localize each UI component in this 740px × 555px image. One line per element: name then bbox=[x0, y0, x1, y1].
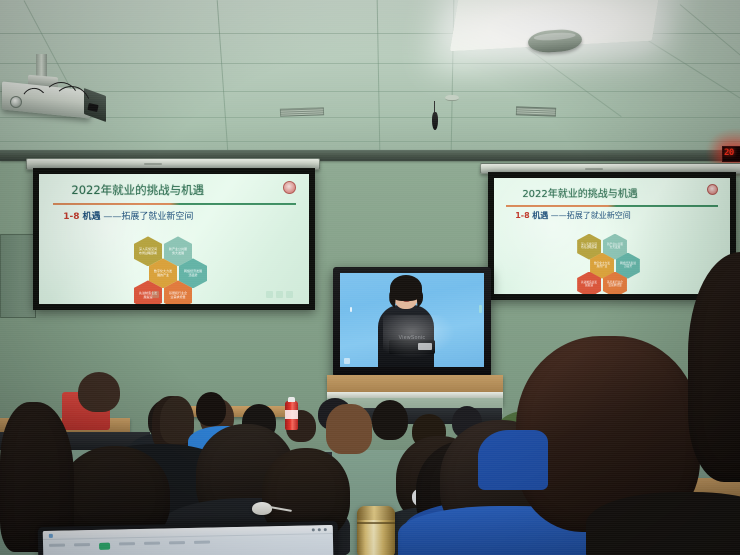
slide-subtitle-keyword: 机遇 bbox=[532, 211, 548, 220]
slide-left: 2022年就业的挑战与机遇 1-8 机遇 ——拓展了就业新空间 深入实施空间布局… bbox=[39, 174, 309, 304]
slide-title: 2022年就业的挑战与机遇 bbox=[522, 185, 637, 200]
led-sign-text: 20 bbox=[724, 148, 734, 158]
hex-label: 深入实施空间布局战略部署 bbox=[581, 244, 598, 250]
ceiling bbox=[0, 0, 740, 162]
bookmark-item[interactable] bbox=[144, 542, 160, 545]
bookmark-item[interactable] bbox=[119, 542, 135, 545]
desktop-cursor-icon bbox=[350, 307, 352, 312]
university-logo-icon bbox=[707, 184, 718, 195]
slide-subtitle: 1-8 机遇 ——拓展了就业新空间 bbox=[63, 209, 193, 222]
watermark-icon bbox=[286, 291, 293, 298]
laptop[interactable] bbox=[38, 521, 339, 555]
slide-right: 2022年就业的挑战与机遇 1-8 机遇 ——拓展了就业新空间 深入实施空间布局… bbox=[494, 178, 730, 294]
thermos-flask bbox=[357, 506, 395, 555]
computer-mouse[interactable] bbox=[252, 502, 272, 515]
slide-watermark-right bbox=[266, 291, 293, 298]
air-vent-2 bbox=[516, 106, 556, 116]
hex-label: 深入实施空间布局战略部署 bbox=[138, 248, 159, 255]
bookmark-item[interactable] bbox=[49, 544, 65, 547]
presenter-paper bbox=[418, 343, 432, 350]
bookmark-item[interactable] bbox=[169, 541, 185, 544]
slide-divider bbox=[506, 205, 718, 207]
slide-watermark-left bbox=[152, 291, 159, 298]
lcd-screen-content: ViewSonic bbox=[340, 273, 484, 367]
slide-title: 2022年就业的挑战与机遇 bbox=[71, 182, 204, 198]
bookmark-item[interactable] bbox=[74, 543, 90, 546]
hanging-sensor-icon bbox=[432, 112, 438, 130]
wall-panel-left bbox=[0, 234, 36, 318]
hex-label: 网络经济发展迅猛势 bbox=[619, 263, 636, 269]
watermark-icon bbox=[266, 291, 273, 298]
smoke-detector-icon bbox=[445, 95, 459, 101]
hex-label: 新产业公共服务大发展 bbox=[606, 244, 623, 250]
browser-action-icon[interactable] bbox=[318, 528, 321, 531]
hex-label: 新产业公共服务大发展 bbox=[168, 248, 189, 255]
hex-label: 基层和行业企业需求增量 bbox=[606, 281, 623, 287]
bookmark-item[interactable] bbox=[194, 541, 210, 544]
desktop-icon[interactable] bbox=[344, 358, 350, 364]
presenter-desk bbox=[389, 340, 435, 354]
hex-label: 数字化大力发展的产业 bbox=[593, 263, 610, 269]
audience-hair-brown bbox=[326, 404, 372, 454]
watermark-icon bbox=[152, 291, 159, 298]
audience-head bbox=[196, 392, 226, 426]
slide-subtitle-number: 1-8 bbox=[63, 212, 79, 222]
blue-jacket-left bbox=[478, 430, 548, 490]
browser-action-icon[interactable] bbox=[324, 528, 327, 531]
thermos-cap bbox=[357, 506, 395, 520]
cola-bottle bbox=[285, 401, 298, 430]
audience-head bbox=[78, 372, 120, 412]
slide-subtitle-tail: ——拓展了就业新空间 bbox=[103, 212, 193, 222]
browser-favicon bbox=[49, 534, 53, 538]
hex-label: 先进制造业发展提速 bbox=[581, 281, 598, 287]
slide-subtitle: 1-8 机遇 ——拓展了就业新空间 bbox=[515, 210, 631, 221]
lecture-hall-photo: 20 2022年就业的挑战与机遇 1-8 机遇 ——拓展了就业新空间 深入实施空… bbox=[0, 0, 740, 555]
thermos-ring bbox=[357, 522, 395, 524]
bottle-cap bbox=[288, 397, 295, 402]
audience-head bbox=[372, 400, 408, 440]
browser-actions[interactable] bbox=[312, 528, 327, 531]
projection-screen-right[interactable]: 2022年就业的挑战与机遇 1-8 机遇 ——拓展了就业新空间 深入实施空间布局… bbox=[488, 172, 736, 300]
air-vent-1 bbox=[280, 107, 324, 117]
hex-label: 基层和行业企业需求增量 bbox=[168, 292, 189, 299]
laptop-screen bbox=[43, 525, 334, 555]
watermark-icon bbox=[276, 291, 283, 298]
projection-screen-left[interactable]: 2022年就业的挑战与机遇 1-8 机遇 ——拓展了就业新空间 深入实施空间布局… bbox=[33, 168, 315, 310]
hexagon-cluster: 深入实施空间布局战略部署新产业公共服务大发展数字化大力发展的产业网络经济发展迅猛… bbox=[572, 234, 652, 294]
slide-subtitle-keyword: 机遇 bbox=[82, 212, 100, 222]
projector-lens-icon bbox=[10, 96, 22, 108]
bookmark-item-active[interactable] bbox=[99, 543, 110, 550]
lcd-display[interactable]: ViewSonic bbox=[333, 267, 491, 377]
hexagon-cluster: 深入实施空间布局战略部署新产业公共服务大发展数字化大力发展的产业网络经济发展迅猛… bbox=[128, 236, 220, 304]
slide-subtitle-tail: ——拓展了就业新空间 bbox=[551, 211, 631, 220]
tv-brand-label: ViewSonic bbox=[399, 335, 426, 341]
browser-action-icon[interactable] bbox=[312, 528, 315, 531]
screen-edge-indicator bbox=[479, 305, 482, 313]
bottle-label bbox=[285, 410, 298, 419]
hex-label: 数字化大力发展的产业 bbox=[153, 270, 174, 277]
hex-label: 网络经济发展迅猛势 bbox=[183, 270, 204, 277]
led-sign: 20 bbox=[722, 146, 740, 162]
presenter-body bbox=[378, 305, 434, 367]
browser-bookmarks[interactable] bbox=[49, 541, 210, 551]
browser-toolbar[interactable] bbox=[43, 525, 333, 540]
slide-subtitle-number: 1-8 bbox=[515, 211, 529, 220]
slide-divider bbox=[53, 203, 296, 205]
university-logo-icon bbox=[283, 181, 296, 194]
